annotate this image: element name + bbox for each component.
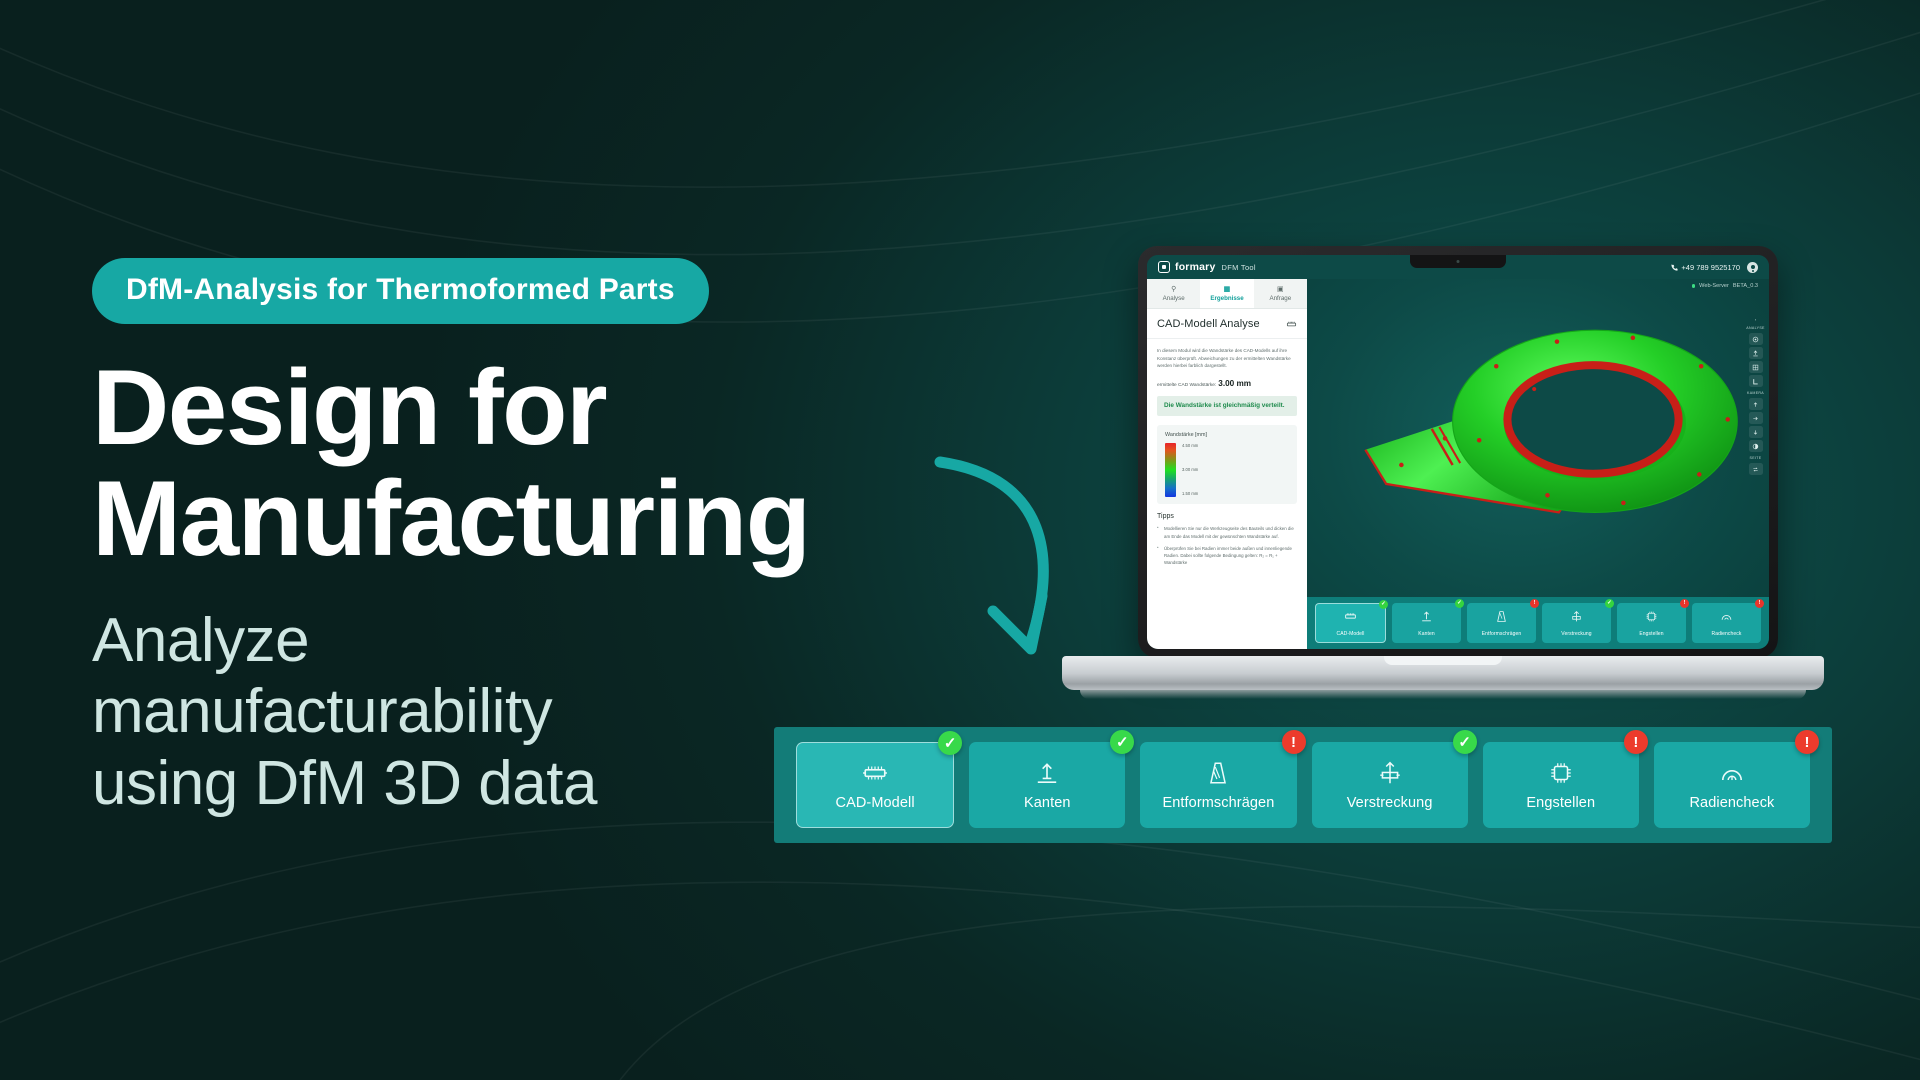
results-grid-icon: ▦ [1224,286,1231,293]
corner-icon[interactable] [1749,375,1763,387]
laptop-mockup: formary DFM Tool +49 789 9525170 Web-Ser [1062,246,1824,706]
laptop-screen: formary DFM Tool +49 789 9525170 Web-Ser [1147,255,1769,649]
status-badge: ✓ [1453,730,1477,754]
thickness-legend: Wandstärke [mm] 4.50 mm 3.00 mm 1.50 mm [1157,425,1297,504]
request-icon: ▣ [1277,286,1284,293]
screen-card-verstreckung[interactable]: ✓ Verstreckung [1542,603,1611,643]
radius-check-icon [1718,760,1746,786]
card-engstellen[interactable]: ! Engstellen [1483,742,1639,828]
tip-item: Überprüfen Sie bei Radien immer beide au… [1157,545,1297,566]
panel-header: CAD-Modell Analyse [1147,309,1307,339]
status-dot-icon [1692,284,1696,288]
card-label: CAD-Modell [836,795,915,811]
measured-thickness-value: 3.00 mm [1218,379,1251,388]
tips-heading: Tipps [1157,513,1297,520]
radius-check-icon [1720,610,1733,628]
view-right-icon[interactable] [1749,412,1763,424]
panel-body: In diesem Modul wird die Wandstärke des … [1147,339,1307,580]
hero-badge: DfM-Analysis for Thermoformed Parts [92,258,709,324]
card-cad-modell[interactable]: ✓ CAD-Modell [796,742,954,828]
tip-item: Modellieren Sie nur die Werkzeugseite de… [1157,525,1297,539]
card-entformschraegen[interactable]: ! Entformschrägen [1140,742,1296,828]
legend-tick-mid: 3.00 mm [1182,467,1198,472]
status-badge: ✓ [1455,599,1464,608]
laptop-lid: formary DFM Tool +49 789 9525170 Web-Ser [1138,246,1778,658]
screen-card-label: Radiencheck [1711,631,1741,637]
search-icon: ⚲ [1171,286,1176,293]
edges-icon [1034,760,1060,786]
measured-thickness-label: ermittelte CAD Wandstärke: [1157,383,1216,388]
flip-side-icon[interactable] [1749,463,1763,475]
edges-icon [1420,610,1433,628]
screen-card-engstellen[interactable]: ! Engstellen [1617,603,1686,643]
status-badge: ! [1282,730,1306,754]
screen-card-label: Engstellen [1639,631,1663,637]
view-iso-icon[interactable] [1749,440,1763,452]
phone-number[interactable]: +49 789 9525170 [1671,263,1740,272]
server-status-label: Web-Server [1699,283,1729,289]
laptop-base-shadow [1080,690,1806,699]
status-badge: ! [1755,599,1764,608]
screen-analysis-toolbar[interactable]: ✓ CAD-Modell ✓ Kanten ! [1307,597,1769,649]
card-radiencheck[interactable]: ! Radiencheck [1654,742,1810,828]
screen-card-label: Verstreckung [1561,631,1591,637]
card-label: Engstellen [1526,795,1595,811]
laptop-base [1062,656,1824,690]
legend-color-bar [1165,443,1176,497]
thermoformed-part-3d-model [1307,279,1769,649]
measured-thickness: ermittelte CAD Wandstärke:3.00 mm [1157,379,1297,388]
legend-ticks: 4.50 mm 3.00 mm 1.50 mm [1182,443,1289,497]
analysis-panel: ⚲ Analyse ▦ Ergebnisse ▣ Anfrage CAD-Mod… [1147,279,1307,649]
toolbar-section-analyse: ANALYSE [1746,326,1764,330]
tab-analyse[interactable]: ⚲ Analyse [1147,279,1200,308]
tab-anfrage-label: Anfrage [1269,295,1291,302]
grid-icon[interactable] [1749,361,1763,373]
stretching-icon [1570,610,1583,628]
screen-card-label: CAD-Modell [1337,631,1365,637]
status-badge: ✓ [1605,599,1614,608]
stretching-icon [1377,760,1403,786]
view-top-icon[interactable] [1749,398,1763,410]
cad-model-icon [1344,610,1357,628]
status-badge: ! [1680,599,1689,608]
status-badge: ✓ [938,731,962,755]
tab-anfrage[interactable]: ▣ Anfrage [1254,279,1307,308]
status-badge: ✓ [1379,600,1388,609]
status-badge: ! [1795,730,1819,754]
panel-tabs[interactable]: ⚲ Analyse ▦ Ergebnisse ▣ Anfrage [1147,279,1307,309]
card-label: Radiencheck [1689,795,1774,811]
legend-tick-min: 1.50 mm [1182,491,1198,496]
screen-card-entformschraegen[interactable]: ! Entformschrägen [1467,603,1536,643]
view-front-icon[interactable] [1749,426,1763,438]
header-right: +49 789 9525170 [1671,262,1758,273]
server-status: Web-Server BETA_0.3 [1692,283,1758,289]
thickness-icon[interactable] [1749,333,1763,345]
panel-description: In diesem Modul wird die Wandstärke des … [1157,347,1297,370]
cad-model-icon [859,760,891,786]
brand-logo: formary [1158,261,1216,273]
draft-icon[interactable] [1749,347,1763,359]
toolbar-section-kamera: KAMERA [1747,391,1764,395]
status-badge: ! [1624,730,1648,754]
analysis-cards-callout: ✓ CAD-Modell ✓ Kanten ! Entformschrägen … [774,727,1832,843]
curved-arrow-icon [930,448,1080,688]
draft-angle-icon [1205,760,1231,786]
status-message: Die Wandstärke ist gleichmäßig verteilt. [1157,396,1297,417]
narrow-areas-icon [1548,760,1574,786]
screen-card-label: Kanten [1418,631,1434,637]
screen-card-cad-modell[interactable]: ✓ CAD-Modell [1315,603,1386,643]
screen-card-radiencheck[interactable]: ! Radiencheck [1692,603,1761,643]
cad-model-icon [1286,319,1297,330]
narrow-areas-icon [1645,610,1658,628]
panel-title: CAD-Modell Analyse [1157,318,1260,330]
card-label: Kanten [1024,795,1071,811]
toolbar-collapse-icon[interactable]: ‹ [1755,317,1756,322]
tool-name: DFM Tool [1222,263,1256,272]
draft-angle-icon [1495,610,1508,628]
toolbar-section-seite: SEITE [1750,456,1762,460]
page-title: Design for Manufacturing [92,352,972,575]
brand-name: formary [1175,261,1216,273]
screen-notch [1410,255,1506,268]
screen-card-kanten[interactable]: ✓ Kanten [1392,603,1461,643]
card-label: Verstreckung [1347,795,1433,811]
phone-icon [1671,264,1678,271]
tips-section: Tipps Modellieren Sie nur die Werkzeugse… [1157,513,1297,580]
card-kanten[interactable]: ✓ Kanten [969,742,1125,828]
screen-card-label: Entformschrägen [1482,631,1522,637]
card-verstreckung[interactable]: ✓ Verstreckung [1312,742,1468,828]
tab-analyse-label: Analyse [1163,295,1185,302]
phone-number-text: +49 789 9525170 [1681,263,1740,272]
tab-ergebnisse[interactable]: ▦ Ergebnisse [1200,279,1253,308]
avatar[interactable] [1747,262,1758,273]
status-badge: ✓ [1110,730,1134,754]
formary-logo-icon [1158,261,1170,273]
tab-ergebnisse-label: Ergebnisse [1210,295,1243,302]
server-status-version: BETA_0.3 [1733,283,1758,289]
legend-title: Wandstärke [mm] [1165,432,1289,438]
viewport-toolbar[interactable]: ‹ ANALYSE KAMERA SEITE [1747,317,1764,475]
card-label: Entformschrägen [1162,795,1274,811]
status-badge: ! [1530,599,1539,608]
legend-tick-max: 4.50 mm [1182,443,1198,448]
model-viewport[interactable] [1307,279,1769,649]
